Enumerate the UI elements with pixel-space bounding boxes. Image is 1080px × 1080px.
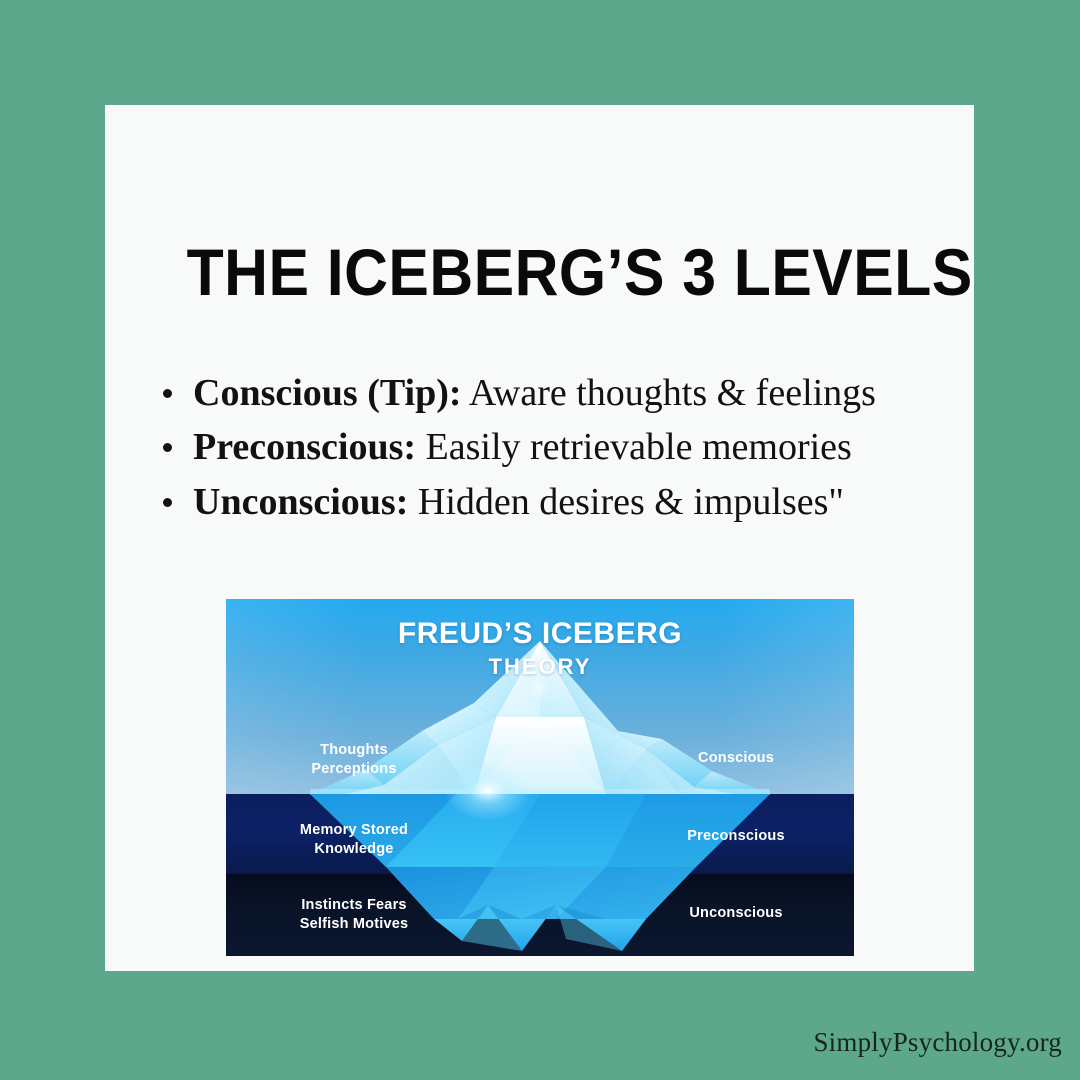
list-item-lead: Unconscious: <box>193 481 408 523</box>
figure-right-label-unconscious: Unconscious <box>646 904 826 923</box>
list-item-rest: Hidden desires & impulses" <box>408 481 844 523</box>
figure-left-label-unconscious: Instincts Fears Selfish Motives <box>264 896 444 933</box>
content-card: THE ICEBERG’S 3 LEVELS Conscious (Tip): … <box>105 105 974 971</box>
freud-iceberg-figure: FREUD’S ICEBERG THEORY <box>226 599 854 956</box>
figure-right-label-conscious: Conscious <box>646 749 826 768</box>
bullet-dot-icon <box>163 443 172 452</box>
levels-list: Conscious (Tip): Aware thoughts & feelin… <box>153 367 953 530</box>
list-item: Conscious (Tip): Aware thoughts & feelin… <box>153 367 953 419</box>
site-attribution: SimplyPsychology.org <box>813 1027 1062 1058</box>
list-item-rest: Easily retrievable memories <box>416 426 852 468</box>
list-item-rest: Aware thoughts & feelings <box>462 372 876 414</box>
poster-canvas: THE ICEBERG’S 3 LEVELS Conscious (Tip): … <box>0 0 1080 1080</box>
bullet-dot-icon <box>163 498 172 507</box>
list-item-lead: Preconscious: <box>193 426 416 468</box>
list-item-lead: Conscious (Tip): <box>193 372 462 414</box>
bullet-dot-icon <box>163 389 172 398</box>
figure-left-label-conscious: Thoughts Perceptions <box>264 741 444 778</box>
figure-right-label-preconscious: Preconscious <box>646 827 826 846</box>
list-item: Preconscious: Easily retrievable memorie… <box>153 421 953 473</box>
page-title: THE ICEBERG’S 3 LEVELS <box>187 239 914 305</box>
figure-left-label-preconscious: Memory Stored Knowledge <box>264 821 444 858</box>
list-item: Unconscious: Hidden desires & impulses" <box>153 476 953 528</box>
